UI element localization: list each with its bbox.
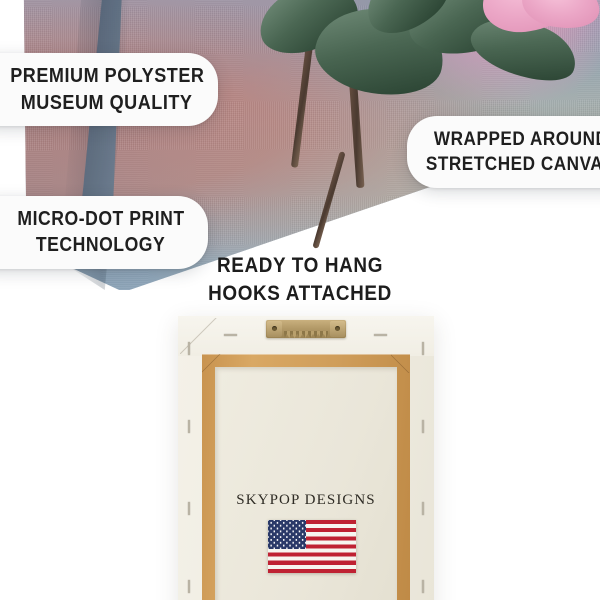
heading-line-1: READY TO HANG [30, 252, 570, 280]
staple [224, 334, 237, 336]
callout-line-1: WRAPPED AROUND [434, 127, 600, 152]
product-infographic: PREMIUM POLYSTER MUSEUM QUALITY WRAPPED … [0, 0, 600, 600]
miter-joint-right [391, 354, 410, 373]
heading-line-2: HOOKS ATTACHED [30, 280, 570, 308]
hanger-screw-hole [335, 326, 340, 331]
callout-line-1: PREMIUM POLYSTER [10, 63, 204, 89]
hanger-screw-hole [272, 326, 277, 331]
callout-line-2: STRETCHED CANVAS [426, 152, 600, 177]
staple [422, 580, 424, 593]
callout-line-1: MICRO-DOT PRINT [17, 207, 184, 233]
usa-flag-icon [268, 520, 356, 573]
miter-joint-left [202, 354, 221, 373]
flag-canton [268, 520, 306, 549]
staple [374, 334, 387, 336]
staple [188, 580, 190, 593]
staple [422, 342, 424, 355]
staple [422, 420, 424, 433]
callout-premium-polyster: PREMIUM POLYSTER MUSEUM QUALITY [0, 53, 218, 126]
brand-name: SKYPOP DESIGNS [178, 492, 434, 509]
hanger-teeth [284, 331, 328, 338]
callout-line-2: MUSEUM QUALITY [21, 90, 193, 116]
ready-to-hang-heading: READY TO HANG HOOKS ATTACHED [0, 252, 600, 309]
flag-stars [268, 520, 306, 549]
staple [188, 420, 190, 433]
staple [188, 342, 190, 355]
sawtooth-hanger-icon [266, 320, 346, 338]
callout-wrapped-around: WRAPPED AROUND STRETCHED CANVAS [407, 116, 600, 188]
